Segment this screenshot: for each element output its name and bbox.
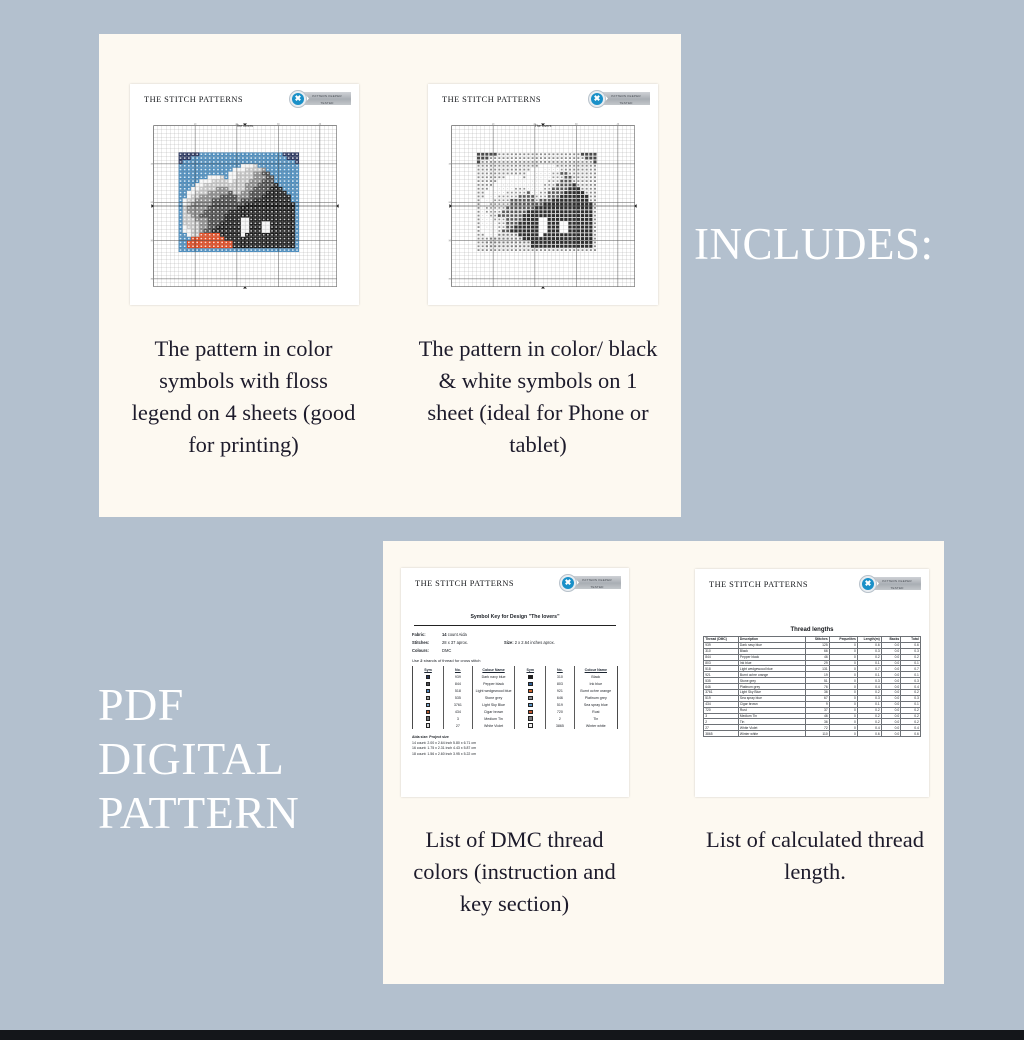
- floss-symbol-swatch: [426, 723, 431, 728]
- document-thread-lengths[interactable]: THE STITCH PATTERNS PATTERN KEEPER TESTE…: [695, 569, 929, 797]
- pdf-heading-line-2: PATTERN: [98, 786, 299, 840]
- aida-size-lines: 14 count: 2.00 x 2.64 inch 5.80 x 6.71 c…: [412, 741, 618, 757]
- badge-line-2: TESTED: [573, 583, 621, 590]
- pattern-keeper-badge: PATTERN KEEPER TESTED ✖: [289, 90, 351, 108]
- key-col-header: Colour Name: [472, 666, 515, 673]
- floss-symbol-swatch: [528, 675, 533, 680]
- note-strands: 2: [420, 658, 422, 663]
- floss-symbol-cell: [515, 673, 546, 680]
- floss-text-cell: 3761: [444, 701, 473, 708]
- caption-color-symbols: The pattern in color symbols with floss …: [128, 333, 359, 461]
- pdf-heading-line-1: DIGITAL: [98, 732, 299, 786]
- pdf-digital-pattern-heading: PDFDIGITALPATTERN: [98, 678, 299, 839]
- symbol-key-table: SymNo.Colour NameSymNo.Colour Name 939Da…: [413, 666, 617, 729]
- floss-text-cell: Black: [574, 673, 617, 680]
- floss-text-cell: Light wedgewood blue: [472, 687, 515, 694]
- floss-text-cell: White Violet: [472, 722, 515, 729]
- thread-cell: 3865: [704, 731, 739, 737]
- sheet-header: THE STITCH PATTERNS PATTERN KEEPER TESTE…: [428, 84, 658, 114]
- floss-symbol-swatch: [528, 682, 533, 687]
- badge-ribbon: PATTERN KEEPER TESTED: [602, 92, 650, 105]
- aida-size-line: 18 count: 1.56 x 2.60 inch 3.95 x 5.22 c…: [412, 752, 618, 757]
- badge-x-glyph: ✖: [862, 578, 874, 590]
- floss-text-cell: Platinum grey: [574, 694, 617, 701]
- aida-size-footer: Aida size: Project size 14 count: 2.00 x…: [412, 735, 618, 757]
- table-body: 939Dark navy blue12500.60.00.6310Black66…: [704, 642, 921, 736]
- badge-line-2: TESTED: [873, 584, 921, 591]
- floss-text-cell: 646: [546, 694, 575, 701]
- chart-area-color: The lovers: [150, 122, 340, 298]
- floss-text-cell: Stone grey: [472, 694, 515, 701]
- floss-symbol-swatch: [426, 716, 431, 721]
- floss-text-cell: Ink blue: [574, 680, 617, 687]
- brand-title: THE STITCH PATTERNS: [144, 95, 243, 104]
- floss-text-cell: 519: [546, 701, 575, 708]
- floss-text-cell: 2: [546, 715, 575, 722]
- table-row: 535Stone grey646Platinum grey: [413, 694, 617, 701]
- floss-text-cell: 3: [444, 715, 473, 722]
- floss-symbol-swatch: [426, 703, 431, 708]
- badge-line-2: TESTED: [303, 99, 351, 106]
- floss-text-cell: Tin: [574, 715, 617, 722]
- floss-text-cell: 921: [546, 687, 575, 694]
- symbol-key-body: Symbol Key for Design "The lovers" Fabri…: [401, 614, 629, 757]
- note-pre: Use: [412, 658, 419, 663]
- pdf-heading-line-0: PDF: [98, 678, 299, 732]
- badge-line-1: PATTERN KEEPER: [303, 92, 351, 99]
- badge-x-glyph: ✖: [562, 577, 574, 589]
- table-row: 3761Light Sky Blue519Sea spray blue: [413, 701, 617, 708]
- floss-symbol-swatch: [528, 710, 533, 715]
- bottom-bar: [0, 1030, 1024, 1040]
- table-row: 518Light wedgewood blue921Burnt ochre or…: [413, 687, 617, 694]
- floss-symbol-swatch: [528, 689, 533, 694]
- sheet-header: THE STITCH PATTERNS PATTERN KEEPER TESTE…: [401, 568, 629, 598]
- document-color-symbol-chart[interactable]: THE STITCH PATTERNS PATTERN KEEPER TESTE…: [130, 84, 359, 305]
- table-row: 844Pepper black803Ink blue: [413, 680, 617, 687]
- thread-lengths-table: Thread (DMC)DescriptionStitchesPequelite…: [703, 636, 921, 737]
- badge-line-1: PATTERN KEEPER: [602, 92, 650, 99]
- sheet-header: THE STITCH PATTERNS PATTERN KEEPER TESTE…: [695, 569, 929, 599]
- badge-ribbon: PATTERN KEEPER TESTED: [573, 576, 621, 589]
- floss-symbol-cell: [413, 680, 444, 687]
- floss-symbol-swatch: [426, 696, 431, 701]
- document-symbol-key[interactable]: THE STITCH PATTERNS PATTERN KEEPER TESTE…: [401, 568, 629, 797]
- floss-symbol-cell: [515, 687, 546, 694]
- floss-text-cell: Rust: [574, 708, 617, 715]
- floss-text-cell: Medium Tin: [472, 715, 515, 722]
- thread-cell: 0.0: [881, 731, 901, 737]
- document-bw-symbol-chart[interactable]: THE STITCH PATTERNS PATTERN KEEPER TESTE…: [428, 84, 658, 305]
- table-row: 27White Violet3865Winter white: [413, 722, 617, 729]
- symbol-key-heading: Symbol Key for Design "The lovers": [412, 614, 618, 620]
- thread-cell: 0.6: [901, 731, 921, 737]
- pattern-keeper-badge: PATTERN KEEPER TESTED ✖: [559, 574, 621, 592]
- table-row: 3Medium Tin2Tin: [413, 715, 617, 722]
- pattern-keeper-badge: PATTERN KEEPER TESTED ✖: [588, 90, 650, 108]
- table-row: 3865Winter white11000.60.00.6: [704, 731, 921, 737]
- floss-symbol-cell: [413, 708, 444, 715]
- caption-dmc-list: List of DMC thread colors (instruction a…: [409, 824, 620, 920]
- floss-text-cell: 803: [546, 680, 575, 687]
- table-row: 434Cigar brown720Rust: [413, 708, 617, 715]
- floss-text-cell: Sea spray blue: [574, 701, 617, 708]
- key-meta-row: Colours:DMC: [412, 647, 618, 655]
- badge-line-1: PATTERN KEEPER: [873, 577, 921, 584]
- chart-area-bw: The lovers: [448, 122, 638, 298]
- cross-stitch-grid-color: [150, 122, 340, 290]
- badge-ribbon: PATTERN KEEPER TESTED: [303, 92, 351, 105]
- floss-text-cell: Winter white: [574, 722, 617, 729]
- key-col-header: Sym: [515, 666, 546, 673]
- cross-stitch-grid-bw: [448, 122, 638, 290]
- floss-text-cell: 3865: [546, 722, 575, 729]
- symbol-key-table-frame: SymNo.Colour NameSymNo.Colour Name 939Da…: [412, 666, 618, 729]
- table-row: 939Dark navy blue310Black: [413, 673, 617, 680]
- floss-symbol-cell: [413, 715, 444, 722]
- key-meta-label: Fabric:: [412, 631, 442, 639]
- floss-symbol-swatch: [528, 696, 533, 701]
- floss-symbol-swatch: [528, 723, 533, 728]
- floss-symbol-cell: [413, 701, 444, 708]
- brand-title: THE STITCH PATTERNS: [709, 580, 808, 589]
- key-meta-row: Fabric:14 count Aida: [412, 631, 618, 639]
- chart-title-label: The lovers: [448, 124, 638, 128]
- key-meta-extra-label: Size:: [504, 640, 515, 645]
- badge-disc-icon: ✖: [588, 90, 606, 108]
- floss-symbol-cell: [413, 687, 444, 694]
- caption-thread-length: List of calculated thread length.: [686, 824, 944, 888]
- floss-text-cell: 720: [546, 708, 575, 715]
- badge-x-glyph: ✖: [292, 93, 304, 105]
- floss-text-cell: 844: [444, 680, 473, 687]
- brand-title: THE STITCH PATTERNS: [415, 579, 514, 588]
- chart-title-label: The lovers: [150, 124, 340, 128]
- floss-text-cell: Burnt ochre orange: [574, 687, 617, 694]
- badge-disc-icon: ✖: [289, 90, 307, 108]
- caption-bw-symbols: The pattern in color/ black & white symb…: [418, 333, 658, 461]
- brand-title: THE STITCH PATTERNS: [442, 95, 541, 104]
- floss-text-cell: Cigar brown: [472, 708, 515, 715]
- badge-line-1: PATTERN KEEPER: [573, 576, 621, 583]
- key-meta-value: DMC: [442, 647, 504, 655]
- floss-text-cell: 518: [444, 687, 473, 694]
- badge-ribbon: PATTERN KEEPER TESTED: [873, 577, 921, 590]
- badge-x-glyph: ✖: [591, 93, 603, 105]
- floss-symbol-swatch: [528, 703, 533, 708]
- poster-canvas: THE STITCH PATTERNS PATTERN KEEPER TESTE…: [0, 0, 1024, 1040]
- floss-symbol-cell: [515, 694, 546, 701]
- floss-text-cell: Light Sky Blue: [472, 701, 515, 708]
- floss-symbol-cell: [515, 715, 546, 722]
- key-meta-row: Stitches:28 x 37 aprox.Size: 2 x 2.64 in…: [412, 639, 618, 647]
- floss-text-cell: 310: [546, 673, 575, 680]
- floss-symbol-cell: [413, 673, 444, 680]
- key-meta-label: Colours:: [412, 647, 442, 655]
- symbol-key-meta: Fabric:14 count AidaStitches:28 x 37 apr…: [412, 631, 618, 654]
- floss-text-cell: 27: [444, 722, 473, 729]
- key-meta-extra-value: 2 x 2.64 inches aprox.: [515, 640, 555, 645]
- floss-symbol-cell: [515, 701, 546, 708]
- thread-lengths-title: Thread lengths: [695, 627, 929, 633]
- key-meta-value: 14 count Aida: [442, 631, 504, 639]
- floss-text-cell: Dark navy blue: [472, 673, 515, 680]
- table-header-row: SymNo.Colour NameSymNo.Colour Name: [413, 666, 617, 673]
- thread-cell: 0: [829, 731, 857, 737]
- floss-symbol-swatch: [426, 710, 431, 715]
- symbol-key-note: Use 2 strands of thread for cross stitch: [412, 658, 618, 663]
- floss-symbol-cell: [515, 680, 546, 687]
- floss-text-cell: 939: [444, 673, 473, 680]
- pattern-keeper-badge: PATTERN KEEPER TESTED ✖: [859, 575, 921, 593]
- floss-symbol-cell: [515, 708, 546, 715]
- key-col-header: Colour Name: [574, 666, 617, 673]
- badge-disc-icon: ✖: [859, 575, 877, 593]
- badge-disc-icon: ✖: [559, 574, 577, 592]
- badge-line-2: TESTED: [602, 99, 650, 106]
- floss-text-cell: 434: [444, 708, 473, 715]
- key-col-header: Sym: [413, 666, 444, 673]
- divider: [414, 625, 616, 626]
- key-meta-value: 28 x 37 aprox.: [442, 639, 504, 647]
- floss-text-cell: 535: [444, 694, 473, 701]
- floss-symbol-swatch: [426, 682, 431, 687]
- floss-symbol-cell: [413, 694, 444, 701]
- sheet-header: THE STITCH PATTERNS PATTERN KEEPER TESTE…: [130, 84, 359, 114]
- key-meta-label: Stitches:: [412, 639, 442, 647]
- note-post: strands of thread for cross stitch: [424, 658, 481, 663]
- table-body: 939Dark navy blue310Black844Pepper black…: [413, 673, 617, 729]
- floss-symbol-swatch: [528, 716, 533, 721]
- floss-symbol-cell: [413, 722, 444, 729]
- key-col-header: No.: [546, 666, 575, 673]
- floss-symbol-swatch: [426, 689, 431, 694]
- thread-cell: Winter white: [738, 731, 805, 737]
- thread-cell: 0.6: [858, 731, 882, 737]
- floss-symbol-cell: [515, 722, 546, 729]
- includes-heading: INCLUDES:: [694, 218, 934, 270]
- thread-cell: 110: [806, 731, 830, 737]
- key-col-header: No.: [444, 666, 473, 673]
- floss-text-cell: Pepper black: [472, 680, 515, 687]
- floss-symbol-swatch: [426, 675, 431, 680]
